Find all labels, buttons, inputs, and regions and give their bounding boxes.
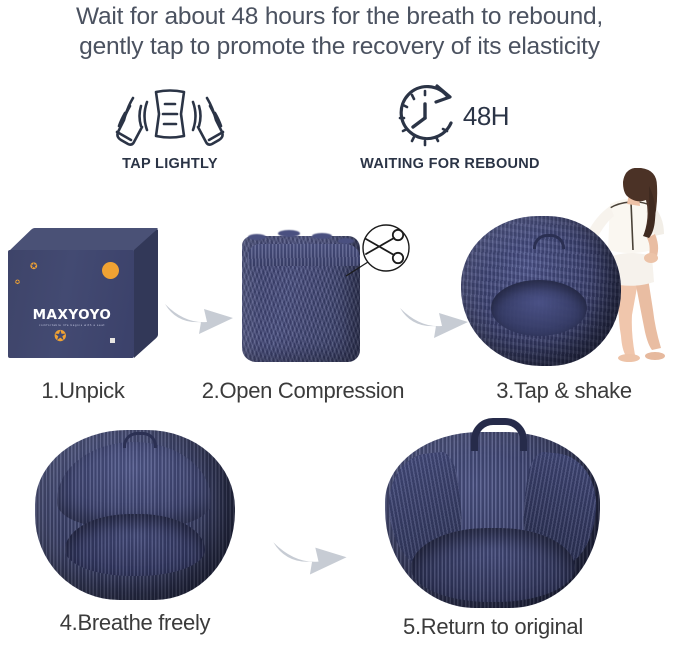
- step-label: 5.Return to original: [363, 614, 623, 640]
- headline-line-2: gently tap to promote the recovery of it…: [0, 32, 679, 62]
- step-label: 3.Tap & shake: [469, 378, 659, 404]
- brand-logo: MAXYOYO comfortable life begins with a s…: [26, 307, 118, 327]
- step-5-return-to-original: 5.Return to original: [385, 418, 600, 608]
- beanbag-seat: [411, 528, 575, 602]
- step-label: 1.Unpick: [0, 378, 166, 404]
- headline-line-1: Wait for about 48 hours for the breath t…: [76, 3, 603, 30]
- cube-fray: [312, 233, 332, 239]
- box-front-face: MAXYOYO comfortable life begins with a s…: [8, 250, 134, 358]
- arrow-step1-to-step2: [163, 288, 237, 345]
- orange-circle-sticker: [102, 262, 119, 279]
- clock-rebound-icon-wrap: 48H: [300, 80, 600, 152]
- beanbag-seat: [491, 280, 587, 336]
- orange-star-small: ✪: [30, 262, 38, 271]
- cube-fray: [248, 234, 266, 240]
- step-label: 2.Open Compression: [193, 378, 413, 404]
- cube-fray: [278, 230, 300, 237]
- callout-pointer: [340, 258, 370, 278]
- cube-fray: [338, 238, 354, 244]
- beanbag-lofted: [461, 216, 621, 366]
- brand-tagline: comfortable life begins with a seat: [26, 324, 118, 327]
- product-box-art: MAXYOYO comfortable life begins with a s…: [8, 228, 158, 358]
- page-title: Wait for about 48 hours for the breath t…: [0, 2, 679, 62]
- beanbag-body: [35, 430, 235, 600]
- feature-caption: WAITING FOR REBOUND: [300, 156, 600, 172]
- step-label: 4.Breathe freely: [10, 610, 260, 636]
- beanbag-handle: [533, 234, 565, 249]
- orange-star-tiny: ✪: [15, 280, 20, 286]
- feature-caption: TAP LIGHTLY: [60, 156, 280, 172]
- white-square-mark: [110, 338, 115, 343]
- feature-waiting-for-rebound: 48H WAITING FOR REBOUND: [300, 80, 600, 172]
- orange-star-large: ✪: [54, 329, 67, 344]
- step-4-breathe-freely: 4.Breathe freely: [35, 430, 235, 605]
- clock-rebound-icon: [391, 81, 465, 151]
- beanbag-handle: [123, 432, 157, 448]
- clock-badge-48h: 48H: [463, 101, 509, 132]
- step-3-tap-and-shake: 3.Tap & shake: [455, 190, 679, 365]
- step-2-open-compression: 2.Open Compression: [238, 222, 368, 362]
- step-1-unpick: MAXYOYO comfortable life begins with a s…: [8, 228, 158, 358]
- compressed-cube: [242, 236, 360, 362]
- beanbag-body: [385, 432, 600, 608]
- beanbag-handle: [471, 418, 527, 451]
- box-side-face: [134, 228, 158, 358]
- feature-tap-lightly: TAP LIGHTLY: [60, 80, 280, 172]
- tap-hands-icon: [60, 80, 280, 152]
- scissors-callout: [356, 222, 412, 278]
- infographic-page: Wait for about 48 hours for the breath t…: [0, 0, 679, 650]
- beanbag-seat: [65, 514, 205, 576]
- arrow-step4-to-step5: [270, 525, 352, 586]
